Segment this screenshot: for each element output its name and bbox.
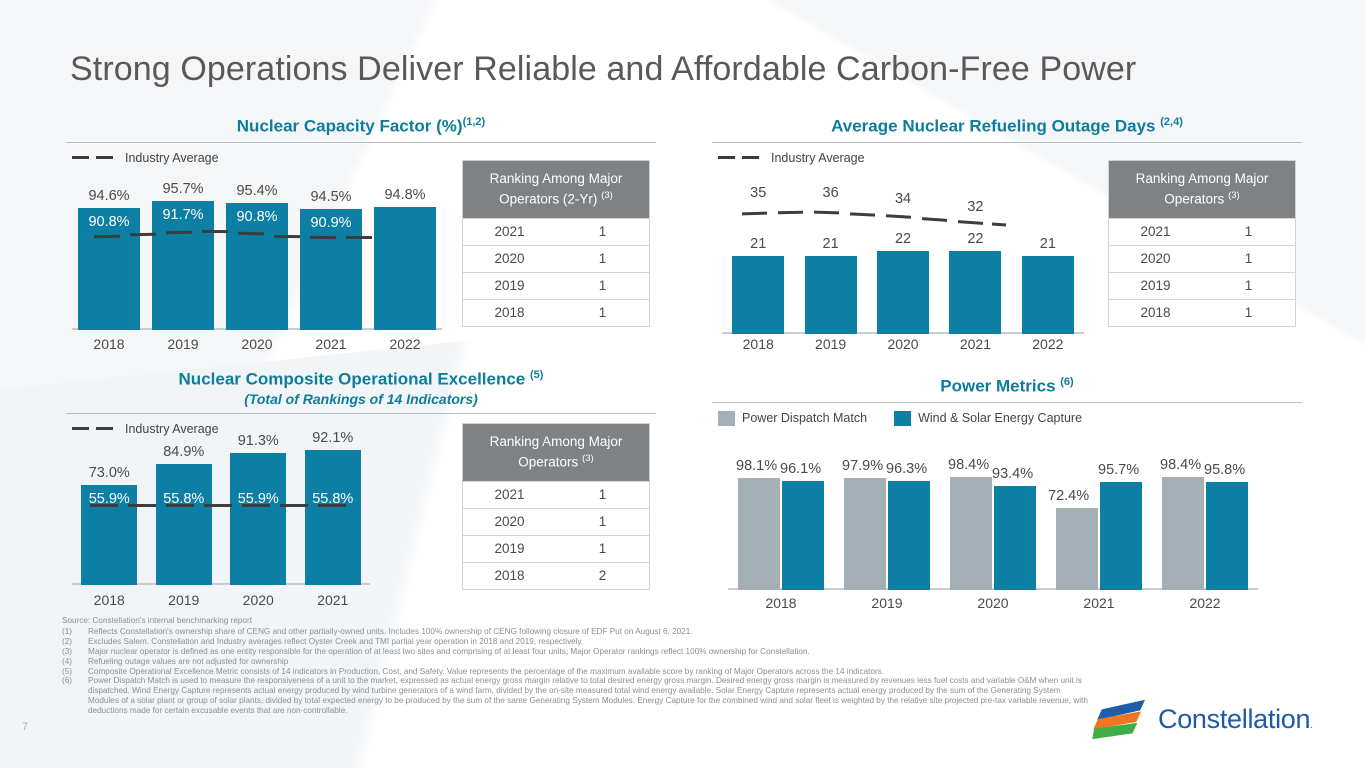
table-row: 2020 1 [463, 245, 649, 272]
footnote-item: (3) Major nuclear operator is defined as… [62, 647, 1092, 657]
bar-label-top: 21 [823, 236, 839, 252]
table-row: 2019 1 [463, 272, 649, 299]
footnotes: Source: Constellation's internal benchma… [62, 616, 1092, 716]
bar-label-dispatch: 97.9% [842, 458, 883, 474]
table-row: 2019 1 [463, 535, 649, 562]
x-axis-labels-capacity-factor: 2018 2019 2020 2021 2022 [72, 336, 442, 352]
bar-label-capture: 96.3% [886, 461, 927, 477]
bar-label-inner: 91.7% [162, 207, 203, 223]
bar-label-dispatch: 98.4% [1160, 457, 1201, 473]
table-row: 2019 1 [1109, 272, 1295, 299]
legend-item-wind-solar: Wind & Solar Energy Capture [894, 411, 1082, 426]
bar-constellation: 90.8% [78, 208, 140, 330]
footnote-item: (5) Composite Operational Excellence Met… [62, 667, 1092, 677]
bar-label-dispatch: 98.1% [736, 458, 777, 474]
legend-power-metrics: Power Dispatch Match Wind & Solar Energy… [712, 411, 1302, 426]
logo-wordmark: Constellation. [1158, 704, 1313, 735]
bar-group-2019: 97.9% 96.3% [834, 440, 940, 590]
bar-wind-solar-capture [888, 481, 930, 590]
footnote-item: (6) Power Dispatch Match is used to meas… [62, 676, 1092, 716]
avg-label: 32 [967, 199, 983, 215]
bar-group-2020: 95.4% 90.8% [220, 175, 294, 330]
bar-group-2020: 98.4% 93.4% [940, 440, 1046, 590]
bar-power-dispatch-match [844, 478, 886, 590]
bar-group-2021: 72.4% 95.7% [1046, 440, 1152, 590]
ranking-table-capacity-factor: Ranking Among Major Operators (2-Yr) (3)… [462, 160, 650, 327]
bar-constellation [877, 251, 929, 334]
bar-power-dispatch-match [1162, 477, 1204, 590]
panel-title-operational-excellence: Nuclear Composite Operational Excellence… [66, 365, 656, 390]
table-row: 2020 1 [463, 508, 649, 535]
panel-capacity-factor: Nuclear Capacity Factor (%)(1,2) Industr… [66, 112, 656, 165]
bar-group-2019: 95.7% 91.7% [146, 175, 220, 330]
bar-label-top: 95.7% [162, 181, 203, 197]
chart-operational-excellence: 73.0% 55.9% 84.9% 55.8% 91.3% 55.9% 92.1… [72, 430, 370, 585]
slide: Strong Operations Deliver Reliable and A… [0, 0, 1365, 768]
footnote-item: (1) Reflects Constellation's ownership s… [62, 627, 1092, 637]
bar-group-2022: 98.4% 95.8% [1152, 440, 1258, 590]
bar-group-2022: 21 [1012, 178, 1084, 334]
bar-group-2019: 84.9% 55.8% [147, 430, 222, 585]
bar-wind-solar-capture [1206, 482, 1248, 590]
table-row: 2018 1 [463, 299, 649, 326]
bar-wind-solar-capture [994, 486, 1036, 590]
bar-group-2022: 94.8% [368, 175, 442, 330]
avg-label: 36 [823, 185, 839, 201]
bar-group-2018: 94.6% 90.8% [72, 175, 146, 330]
x-axis-labels-operational-excellence: 2018 2019 2020 2021 [72, 592, 370, 608]
ranking-table-header: Ranking Among Major Operators (3) [1109, 161, 1295, 218]
bar-label-inner: 90.8% [88, 214, 129, 230]
bar-label-top: 84.9% [163, 444, 204, 460]
bar-constellation [805, 256, 857, 334]
panel-title-outage-days: Average Nuclear Refueling Outage Days (2… [712, 112, 1302, 137]
bar-group-2021: 22 32 [939, 178, 1011, 334]
legend-item-power-dispatch-match: Power Dispatch Match [718, 411, 867, 426]
bar-label-top: 22 [967, 231, 983, 247]
table-row: 2018 2 [463, 562, 649, 589]
bar-power-dispatch-match [950, 477, 992, 590]
bar-label-top: 73.0% [89, 465, 130, 481]
x-axis-labels-outage-days: 2018 2019 2020 2021 2022 [722, 336, 1084, 352]
bar-group-2020: 91.3% 55.9% [221, 430, 296, 585]
bar-label-capture: 93.4% [992, 466, 1033, 482]
bar-group-2021: 94.5% 90.9% [294, 175, 368, 330]
swatch-teal-icon [894, 411, 911, 426]
bar-label-capture: 95.8% [1204, 462, 1245, 478]
bar-group-2021: 92.1% 55.8% [296, 430, 371, 585]
bar-constellation: 55.8% [156, 464, 212, 585]
bar-power-dispatch-match [738, 478, 780, 590]
bar-label-dispatch: 98.4% [948, 457, 989, 473]
table-row: 2020 1 [1109, 245, 1295, 272]
bar-constellation [1022, 256, 1074, 334]
panel-subtitle-operational-excellence: (Total of Rankings of 14 Indicators) [66, 390, 656, 408]
table-row: 2018 1 [1109, 299, 1295, 326]
panel-power-metrics: Power Metrics (6) Power Dispatch Match W… [712, 372, 1302, 426]
bar-constellation: 90.9% [300, 209, 362, 330]
bar-constellation: 55.9% [81, 485, 137, 585]
table-row: 2021 1 [1109, 218, 1295, 245]
bar-label-capture: 95.7% [1098, 462, 1139, 478]
page-title: Strong Operations Deliver Reliable and A… [70, 50, 1136, 89]
swatch-gray-icon [718, 411, 735, 426]
panel-title-power-metrics: Power Metrics (6) [712, 372, 1302, 397]
avg-label: 34 [895, 191, 911, 207]
divider [712, 402, 1302, 403]
footnote-item: (4) Refueling outage values are not adju… [62, 657, 1092, 667]
table-row: 2021 1 [463, 481, 649, 508]
bar-constellation [732, 256, 784, 334]
bar-label-inner: 90.8% [236, 209, 277, 225]
footnote-source: Source: Constellation's internal benchma… [62, 616, 1092, 626]
chart-power-metrics: 98.1% 96.1% 97.9% 96 [728, 440, 1258, 590]
bar-group-2019: 21 36 [794, 178, 866, 334]
bar-label-top: 22 [895, 231, 911, 247]
panel-title-capacity-factor: Nuclear Capacity Factor (%)(1,2) [66, 112, 656, 137]
bar-constellation [374, 207, 436, 330]
bar-wind-solar-capture [1100, 482, 1142, 590]
chart-outage-days: 21 35 21 36 22 34 22 32 21 [722, 178, 1084, 334]
bar-constellation: 55.8% [305, 450, 361, 585]
bar-label-top: 92.1% [312, 430, 353, 446]
bar-label-top: 94.8% [384, 187, 425, 203]
x-axis-labels-power-metrics: 2018 2019 2020 2021 2022 [728, 595, 1258, 611]
bar-label-top: 94.5% [310, 189, 351, 205]
bar-label-top: 21 [1040, 236, 1056, 252]
bar-group-2018: 73.0% 55.9% [72, 430, 147, 585]
bar-group-2018: 98.1% 96.1% [728, 440, 834, 590]
ranking-table-header: Ranking Among Major Operators (3) [463, 424, 649, 481]
divider [66, 142, 656, 143]
bar-constellation: 90.8% [226, 203, 288, 330]
ranking-table-operational-excellence: Ranking Among Major Operators (3) 2021 1… [462, 423, 650, 590]
table-row: 2021 1 [463, 218, 649, 245]
divider [66, 413, 656, 414]
bar-group-2020: 22 34 [867, 178, 939, 334]
divider [712, 142, 1302, 143]
bar-group-2018: 21 35 [722, 178, 794, 334]
bar-label-top: 95.4% [236, 183, 277, 199]
dashed-line-icon [718, 152, 764, 163]
ranking-table-outage-days: Ranking Among Major Operators (3) 2021 1… [1108, 160, 1296, 327]
panel-outage-days: Average Nuclear Refueling Outage Days (2… [712, 112, 1302, 165]
bar-label-inner: 90.9% [310, 215, 351, 231]
constellation-logo: Constellation. [1092, 696, 1313, 742]
bar-label-top: 21 [750, 236, 766, 252]
bar-label-capture: 96.1% [780, 461, 821, 477]
chart-capacity-factor: 94.6% 90.8% 95.7% 91.7% 95.4% 90.8% 94.5… [72, 175, 442, 330]
bar-label-dispatch: 72.4% [1048, 488, 1089, 504]
bar-wind-solar-capture [782, 481, 824, 590]
bar-constellation [949, 251, 1001, 334]
bar-power-dispatch-match [1056, 508, 1098, 590]
dashed-line-icon [72, 152, 118, 163]
avg-label: 35 [750, 185, 766, 201]
constellation-logo-mark-icon [1092, 696, 1150, 742]
bar-label-top: 91.3% [238, 433, 279, 449]
footnote-item: (2) Excludes Salem. Constellation and In… [62, 637, 1092, 647]
bar-constellation: 91.7% [152, 201, 214, 330]
ranking-table-header: Ranking Among Major Operators (2-Yr) (3) [463, 161, 649, 218]
bar-label-top: 94.6% [88, 188, 129, 204]
page-number: 7 [22, 721, 28, 733]
bar-constellation: 55.9% [230, 453, 286, 585]
